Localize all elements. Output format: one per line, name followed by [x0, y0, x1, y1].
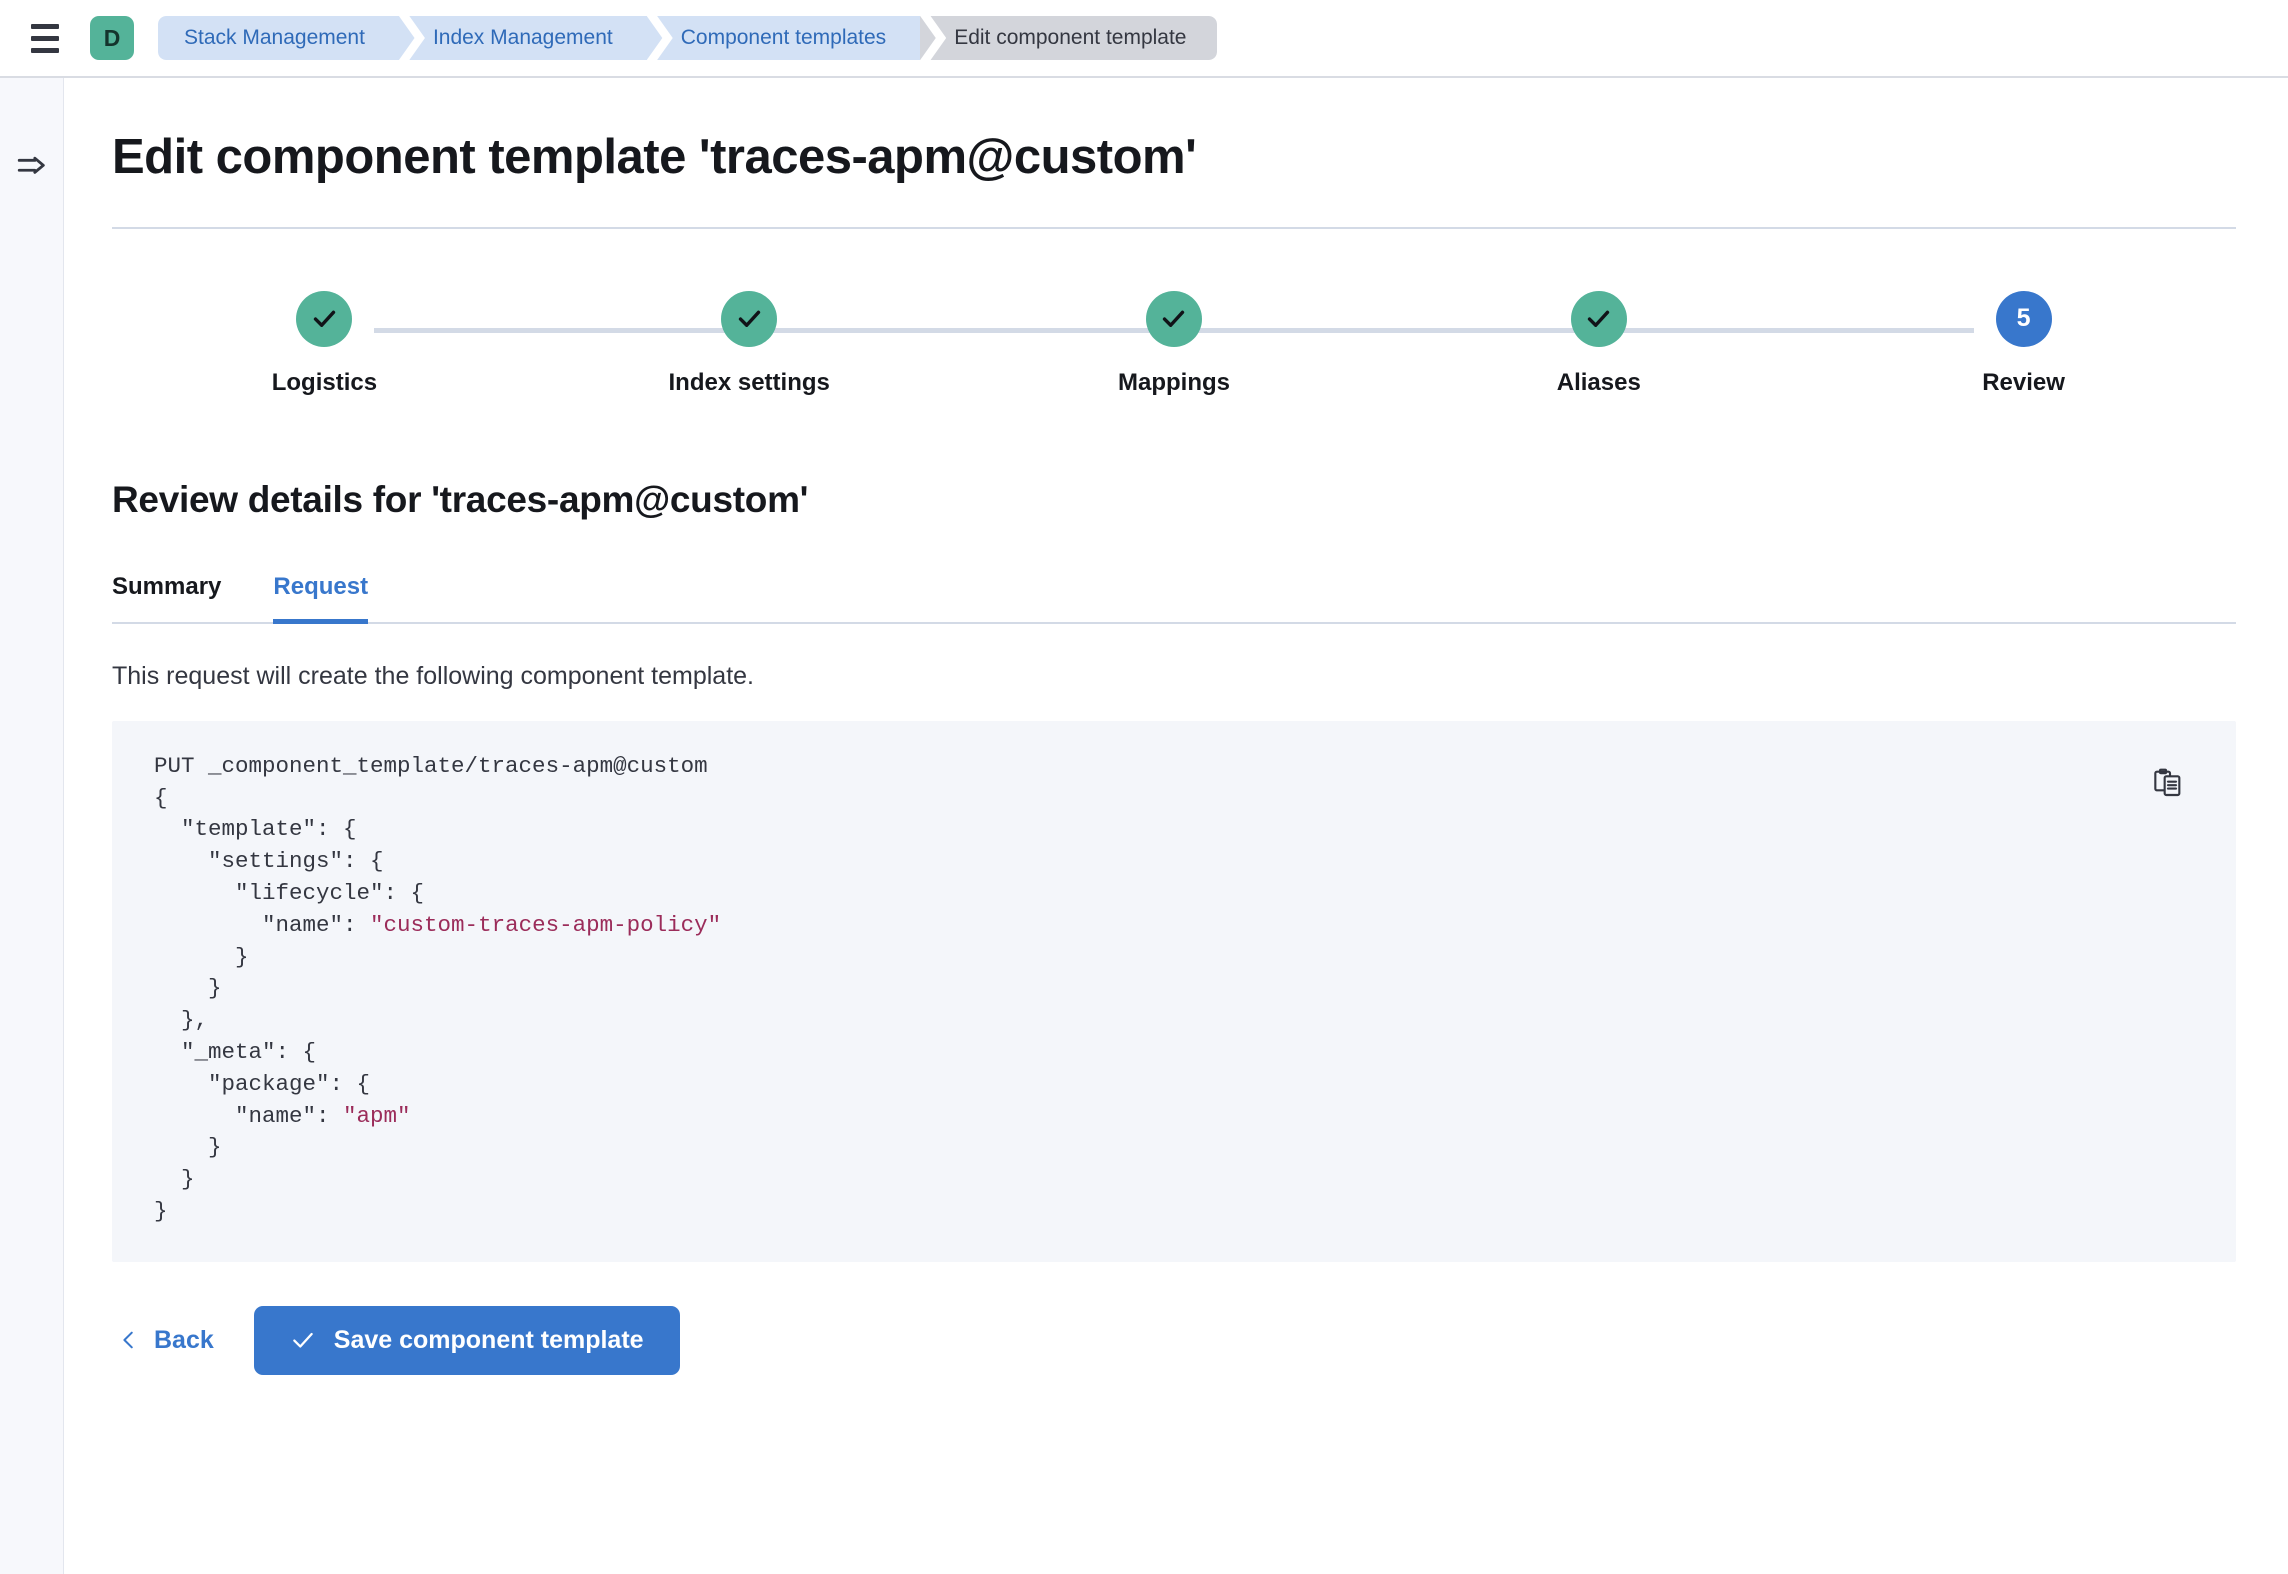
breadcrumb: Stack Management Index Management Compon…: [158, 16, 1217, 60]
copy-clipboard-icon[interactable]: [2148, 763, 2188, 803]
step-label: Aliases: [1557, 369, 1641, 397]
request-code-block: PUT _component_template/traces-apm@custo…: [112, 721, 2236, 1262]
top-header: D Stack Management Index Management Comp…: [0, 0, 2288, 78]
title-divider: [112, 227, 2236, 229]
section-title: Review details for 'traces-apm@custom': [112, 479, 2236, 521]
step-label: Review: [1982, 369, 2065, 397]
back-button-label: Back: [154, 1326, 214, 1355]
step-logistics[interactable]: Logistics: [112, 291, 537, 397]
step-circle-active: 5: [1996, 291, 2052, 347]
avatar[interactable]: D: [90, 16, 134, 60]
breadcrumb-item-index-management[interactable]: Index Management: [399, 16, 647, 60]
step-label: Index settings: [669, 369, 830, 397]
step-index-settings[interactable]: Index settings: [537, 291, 962, 397]
step-circle-complete: [1146, 291, 1202, 347]
save-button-label: Save component template: [334, 1326, 644, 1355]
step-label: Logistics: [272, 369, 377, 397]
check-icon: [290, 1327, 316, 1353]
breadcrumb-item-stack-management[interactable]: Stack Management: [158, 16, 399, 60]
hamburger-bar: [31, 24, 59, 29]
request-description: This request will create the following c…: [112, 662, 2236, 691]
breadcrumb-item-edit-component-template[interactable]: Edit component template: [920, 16, 1216, 60]
check-icon: [1160, 305, 1187, 332]
step-circle-complete: [1571, 291, 1627, 347]
step-circle-complete: [296, 291, 352, 347]
left-sidebar-rail: [0, 78, 64, 1574]
step-aliases[interactable]: Aliases: [1386, 291, 1811, 397]
tab-summary[interactable]: Summary: [112, 573, 221, 622]
breadcrumb-item-component-templates[interactable]: Component templates: [647, 16, 920, 60]
check-icon: [1585, 305, 1612, 332]
step-circle-complete: [721, 291, 777, 347]
save-component-template-button[interactable]: Save component template: [254, 1306, 680, 1375]
step-review[interactable]: 5 Review: [1811, 291, 2236, 397]
expand-panel-arrow-icon[interactable]: [12, 146, 52, 186]
page-title: Edit component template 'traces-apm@cust…: [112, 130, 2236, 185]
tab-request[interactable]: Request: [273, 573, 368, 622]
back-button[interactable]: Back: [112, 1316, 220, 1365]
check-icon: [311, 305, 338, 332]
footer-actions: Back Save component template: [112, 1306, 2236, 1375]
hamburger-bar: [31, 48, 59, 53]
main-content: Edit component template 'traces-apm@cust…: [64, 78, 2288, 1574]
request-code-text[interactable]: PUT _component_template/traces-apm@custo…: [154, 751, 2200, 1228]
chevron-left-icon: [118, 1329, 140, 1351]
step-mappings[interactable]: Mappings: [962, 291, 1387, 397]
check-icon: [736, 305, 763, 332]
step-label: Mappings: [1118, 369, 1230, 397]
wizard-stepper: Logistics Index settings Mappings: [112, 291, 2236, 423]
tab-bar: Summary Request: [112, 573, 2236, 624]
hamburger-menu-icon[interactable]: [22, 15, 68, 61]
hamburger-bar: [31, 36, 59, 41]
